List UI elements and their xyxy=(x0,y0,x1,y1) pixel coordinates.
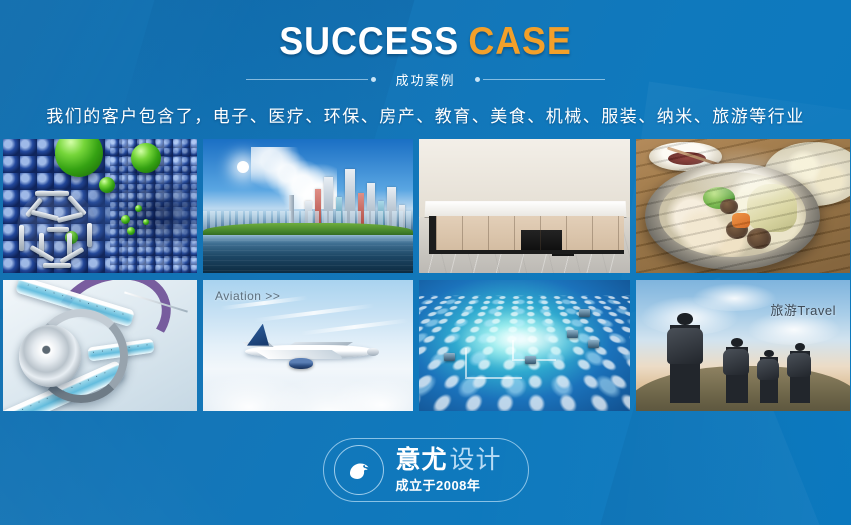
water-surface xyxy=(203,235,413,273)
backpack xyxy=(667,328,703,364)
gallery-tile-laboratory[interactable] xyxy=(419,139,630,273)
backpack xyxy=(757,359,779,380)
logo-text-block: 意尤设计 成立于2008年 xyxy=(395,448,501,492)
gallery-tile-electronics[interactable] xyxy=(419,280,630,411)
title-word-case: CASE xyxy=(468,20,571,63)
chip xyxy=(579,309,590,317)
gallery-tile-food[interactable] xyxy=(636,139,850,273)
cabbage xyxy=(747,184,797,232)
steam xyxy=(679,144,807,198)
travel-image: 旅游Travel xyxy=(636,280,850,411)
hiker xyxy=(790,351,810,403)
hiker-head xyxy=(764,350,773,357)
subtitle-chinese: 成功案例 xyxy=(379,70,471,89)
chip xyxy=(525,356,536,364)
lab-benchtop xyxy=(425,201,627,217)
brand-name-light: 设计 xyxy=(450,446,502,474)
contrail xyxy=(300,318,409,335)
logo-badge xyxy=(333,445,383,495)
contrail xyxy=(254,304,375,323)
backpack xyxy=(723,349,749,375)
divider-line-left xyxy=(246,79,368,80)
gallery-tile-aviation[interactable]: Aviation >> xyxy=(203,280,413,411)
subtitle-divider: 成功案例 xyxy=(0,70,851,89)
hiker xyxy=(760,357,778,403)
gallery-tile-travel[interactable]: 旅游Travel xyxy=(636,280,850,411)
brand-logo[interactable]: 意尤设计 成立于2008年 xyxy=(322,438,528,502)
divider-dot-right xyxy=(475,77,480,82)
environment-image xyxy=(203,139,413,273)
banner-stage: SUCCESSCASE 成功案例 我们的客户包含了，电子、医疗、环保、房产、教育… xyxy=(0,0,851,525)
green-sphere xyxy=(121,215,130,224)
stethoscope-chestpiece xyxy=(19,325,81,387)
travel-overlay-label: 旅游Travel xyxy=(770,300,836,319)
laboratory-image xyxy=(419,139,630,273)
green-sphere xyxy=(127,227,135,235)
green-sphere xyxy=(135,205,142,212)
fullerene-molecule xyxy=(17,189,97,269)
divider-dot-left xyxy=(371,77,376,82)
hiker-head xyxy=(731,338,742,347)
nose xyxy=(367,348,379,356)
bird-mark-icon xyxy=(342,454,374,486)
aviation-overlay-label: Aviation >> xyxy=(215,289,280,303)
hotpot-contents xyxy=(659,172,806,258)
chopstick xyxy=(667,147,721,167)
greens xyxy=(703,187,735,209)
chip xyxy=(567,330,578,338)
food-image xyxy=(636,139,850,273)
brand-name: 意尤设计 xyxy=(395,448,501,473)
tagline-text: 我们的客户包含了，电子、医疗、环保、房产、教育、美食、机械、服装、纳米、旅游等行… xyxy=(0,102,851,127)
green-sphere xyxy=(99,177,115,193)
mushroom xyxy=(720,199,738,214)
hotpot xyxy=(645,163,820,270)
backpack xyxy=(787,353,811,377)
title-word-success: SUCCESS xyxy=(279,20,459,63)
lab-cabinets xyxy=(429,216,624,255)
sun-glow xyxy=(237,161,249,173)
gallery-tile-nanotech[interactable] xyxy=(3,139,197,273)
hiker xyxy=(726,347,748,403)
lab-dark-panel xyxy=(521,230,562,251)
chip xyxy=(444,353,455,361)
case-gallery-grid: Aviation >> xyxy=(3,139,848,411)
page-title: SUCCESSCASE xyxy=(34,22,817,61)
green-sphere xyxy=(131,143,161,173)
gallery-tile-medical[interactable] xyxy=(3,280,197,411)
aviation-image: Aviation >> xyxy=(203,280,413,411)
hiker xyxy=(670,325,700,403)
nanotech-image xyxy=(3,139,197,273)
mushroom xyxy=(726,220,748,239)
mushroom xyxy=(747,228,771,249)
established-text: 成立于2008年 xyxy=(395,479,501,492)
carrot xyxy=(732,213,750,228)
vertical-tail xyxy=(247,324,269,346)
green-sphere xyxy=(143,219,149,225)
engine xyxy=(289,358,313,369)
chip xyxy=(588,340,599,348)
gallery-tile-environment[interactable] xyxy=(203,139,413,273)
brand-name-bold: 意尤 xyxy=(395,446,447,474)
banner-header: SUCCESSCASE 成功案例 我们的客户包含了，电子、医疗、环保、房产、教育… xyxy=(0,0,851,127)
divider-line-right xyxy=(483,79,605,80)
electronics-image xyxy=(419,280,630,411)
hiker-head xyxy=(795,343,805,351)
airliner xyxy=(245,338,375,360)
medical-image xyxy=(3,280,197,411)
cloud xyxy=(692,283,778,312)
lab-bench xyxy=(425,201,626,255)
side-plate xyxy=(764,142,850,206)
sauce-bowl xyxy=(649,142,722,171)
hiker-head xyxy=(677,313,693,325)
